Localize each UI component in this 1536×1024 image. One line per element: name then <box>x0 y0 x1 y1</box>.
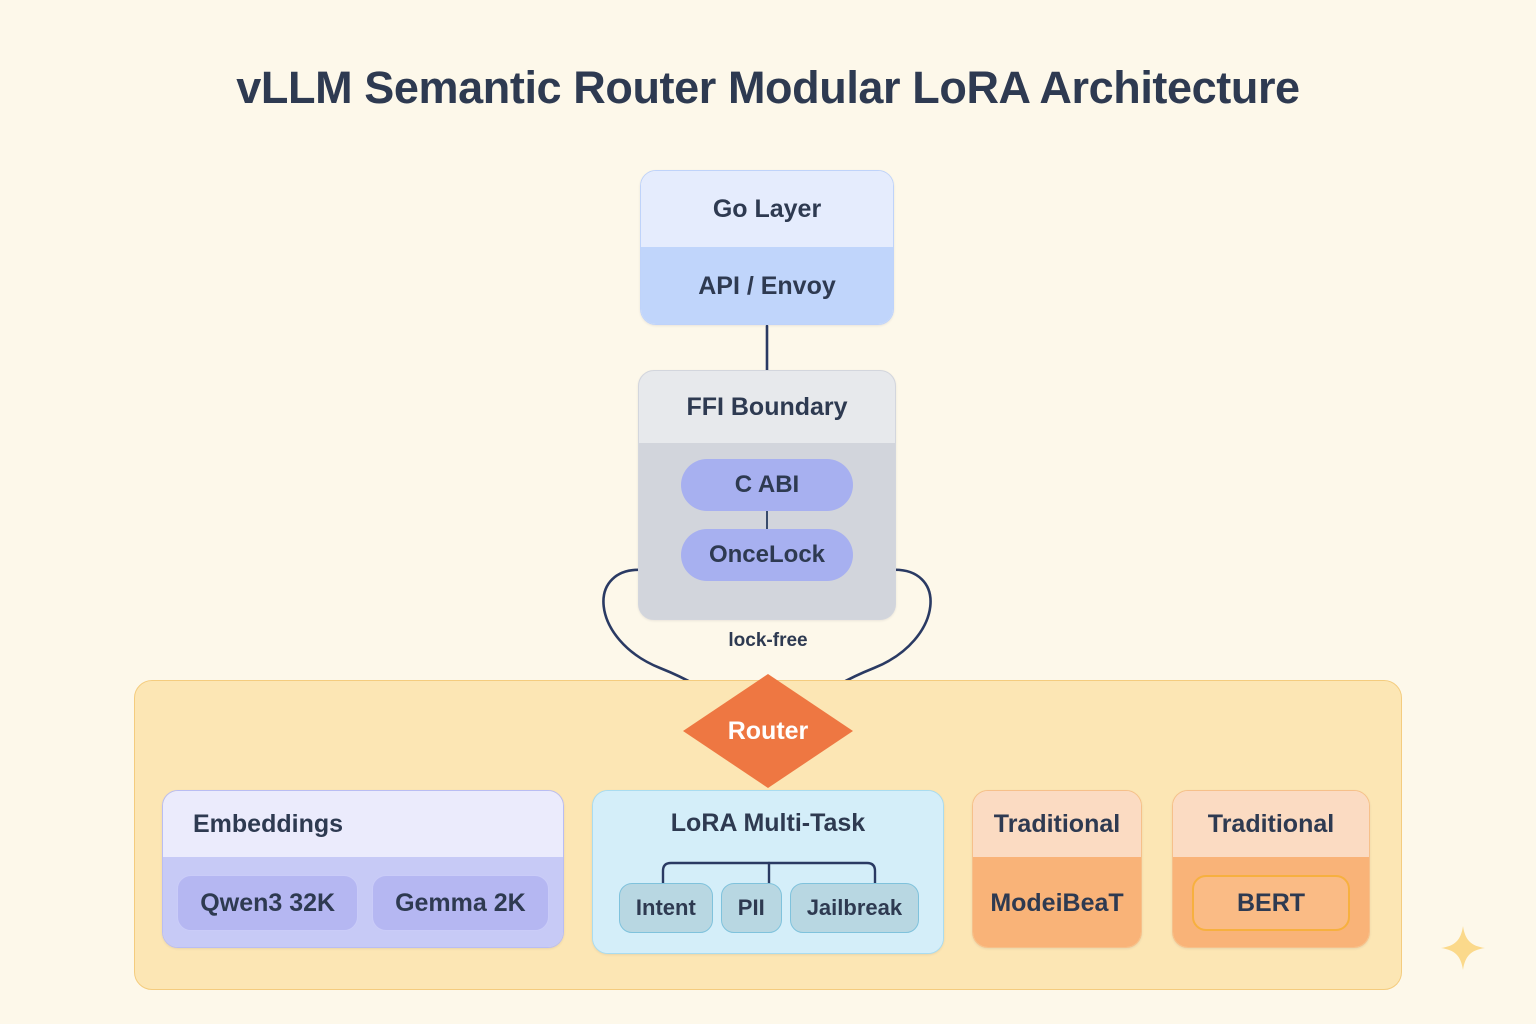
traditional-bert-items: BERT <box>1173 857 1369 948</box>
lora-multi-task-card[interactable]: LoRA Multi-Task Intent PII Jailbreak <box>592 790 944 954</box>
go-layer-header: Go Layer <box>641 171 893 247</box>
lora-item-jailbreak[interactable]: Jailbreak <box>790 883 919 933</box>
page-title: vLLM Semantic Router Modular LoRA Archit… <box>0 62 1536 114</box>
traditional-bert-header: Traditional <box>1173 791 1369 857</box>
embeddings-header: Embeddings <box>163 791 563 857</box>
embeddings-item-gemma[interactable]: Gemma 2K <box>372 875 549 931</box>
go-layer-api-envoy[interactable]: API / Envoy <box>641 247 893 325</box>
traditional-modelbeat-items: ModeiBeaT <box>973 857 1141 948</box>
ffi-internal-connector <box>766 511 768 531</box>
embeddings-card[interactable]: Embeddings Qwen3 32K Gemma 2K <box>162 790 564 948</box>
lora-multi-task-body: Intent PII Jailbreak <box>593 855 943 954</box>
lora-item-pii[interactable]: PII <box>721 883 782 933</box>
embeddings-item-qwen3[interactable]: Qwen3 32K <box>177 875 358 931</box>
lora-multi-task-items: Intent PII Jailbreak <box>593 883 944 933</box>
diagram-canvas: vLLM Semantic Router Modular LoRA Archit… <box>0 0 1536 1024</box>
traditional-bert-card[interactable]: Traditional BERT <box>1172 790 1370 948</box>
ffi-item-c-abi[interactable]: C ABI <box>681 459 853 511</box>
lora-multi-task-header: LoRA Multi-Task <box>593 791 943 855</box>
ffi-boundary-card[interactable]: FFI Boundary C ABI OnceLock <box>638 370 896 620</box>
router-label: Router <box>728 717 809 746</box>
traditional-modelbeat-card[interactable]: Traditional ModeiBeaT <box>972 790 1142 948</box>
edge-label-lock-free: lock-free <box>0 630 1536 652</box>
go-layer-card[interactable]: Go Layer API / Envoy <box>640 170 894 325</box>
traditional-item-bert[interactable]: BERT <box>1192 875 1350 931</box>
traditional-item-modelbeat[interactable]: ModeiBeaT <box>990 889 1123 918</box>
sparkle-icon <box>1440 925 1486 971</box>
router-node[interactable]: Router <box>683 674 853 788</box>
embeddings-items: Qwen3 32K Gemma 2K <box>163 857 563 948</box>
ffi-boundary-items: C ABI OnceLock <box>639 443 895 620</box>
lora-item-intent[interactable]: Intent <box>619 883 713 933</box>
traditional-modelbeat-header: Traditional <box>973 791 1141 857</box>
ffi-boundary-header: FFI Boundary <box>639 371 895 443</box>
ffi-item-oncelock[interactable]: OnceLock <box>681 529 853 581</box>
